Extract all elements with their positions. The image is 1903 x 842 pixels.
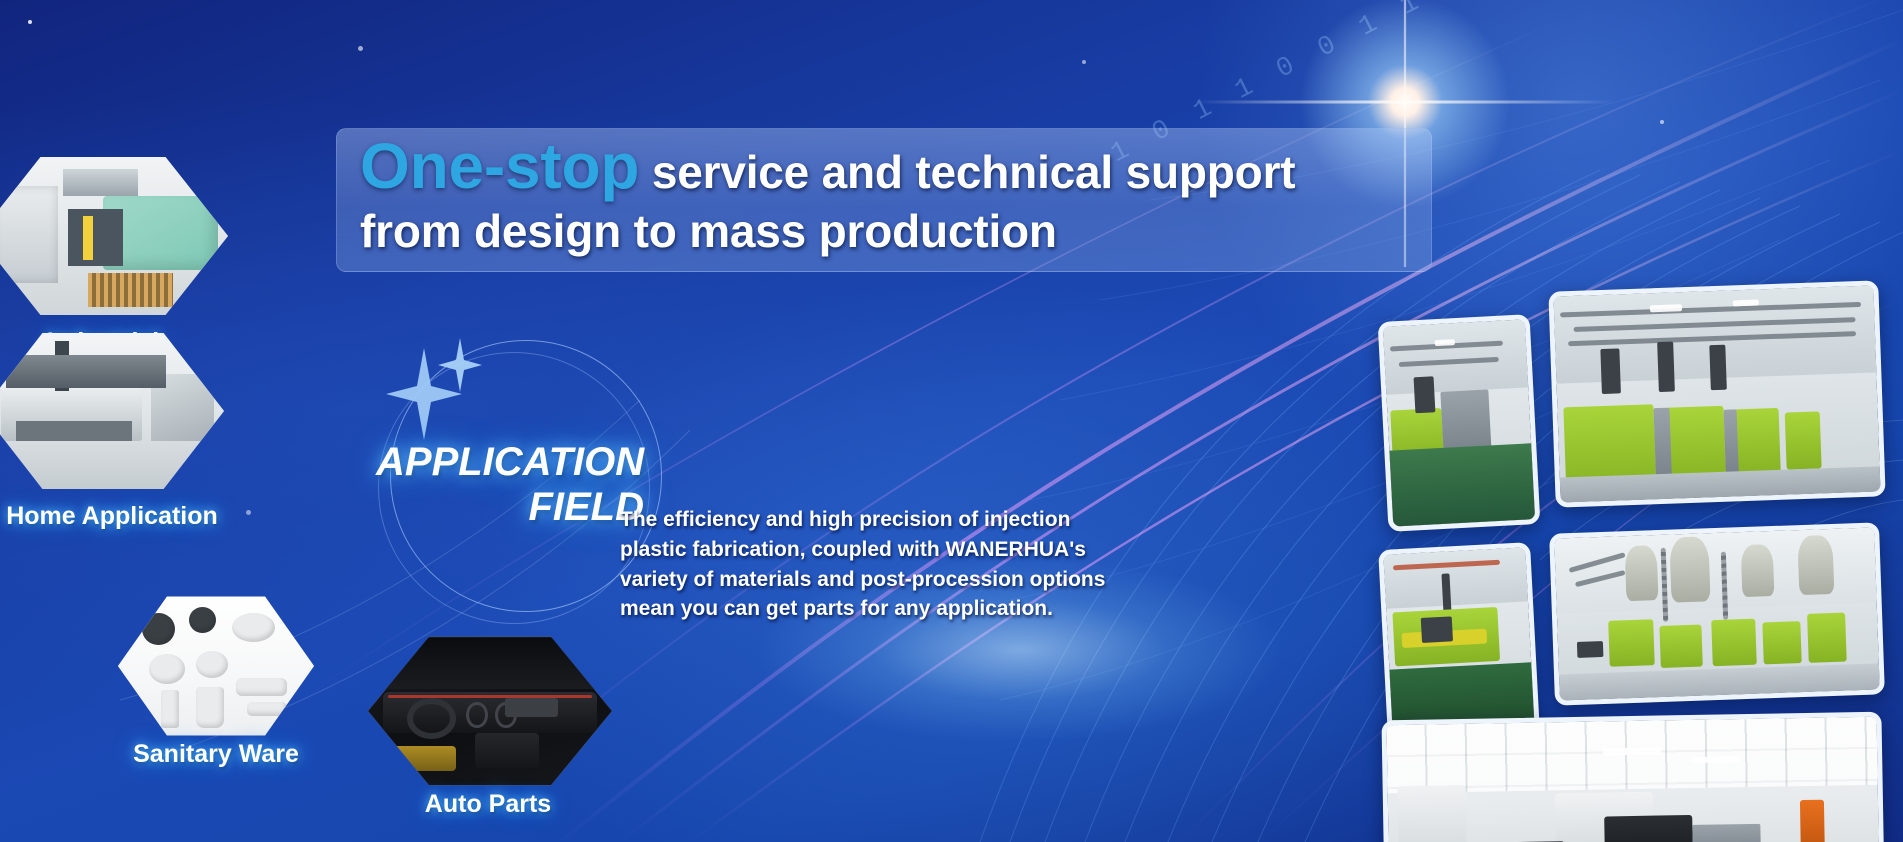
application-field-line-2: FIELD [376,485,656,530]
category-label-sanitary-ware: Sanitary Ware [110,740,322,769]
paragraph-line: The efficiency and high precision of inj… [620,505,1240,535]
gallery-card-workshop[interactable] [1381,712,1884,842]
paragraph-line: variety of materials and post-procession… [620,565,1240,595]
headline-rest-text: service and technical support [639,146,1295,198]
category-card-industrial[interactable] [0,152,228,320]
star-dot [1660,120,1664,124]
application-field-line-1: APPLICATION [376,440,656,485]
headline: One-stop service and technical support f… [360,134,1430,254]
description-paragraph: The efficiency and high precision of inj… [620,505,1240,624]
star-dot [358,46,363,51]
gallery-card-conveyor[interactable] [1378,314,1541,532]
paragraph-line: mean you can get parts for any applicati… [620,594,1240,624]
application-field-title: APPLICATION FIELD [376,440,656,530]
industrial-photo [0,152,228,320]
headline-accent-text: One-stop [360,130,639,202]
gallery-card-green-machine[interactable] [1378,542,1540,740]
category-label-home-application: Home Application [0,502,244,531]
category-card-home-application[interactable] [0,328,224,494]
paragraph-line: plastic fabrication, coupled with WANERH… [620,535,1240,565]
category-card-auto-parts[interactable] [368,632,612,790]
category-label-auto-parts: Auto Parts [366,790,610,819]
star-dot [246,510,251,515]
sparkle-star-small [438,338,482,392]
star-dot [1082,60,1086,64]
application-field-banner: 1 0 1 1 0 0 1 1 0 1 0 0 1 1 0 One-stop s… [0,0,1903,842]
category-card-sanitary-ware[interactable] [118,592,314,740]
auto-parts-photo [368,632,612,790]
home-application-photo [0,328,224,494]
star-dot [28,20,32,24]
headline-line-2: from design to mass production [360,208,1430,254]
gallery-card-machine-row[interactable] [1548,280,1885,507]
sanitary-ware-photo [118,592,314,740]
gallery-card-dryer-hoppers[interactable] [1549,522,1885,705]
